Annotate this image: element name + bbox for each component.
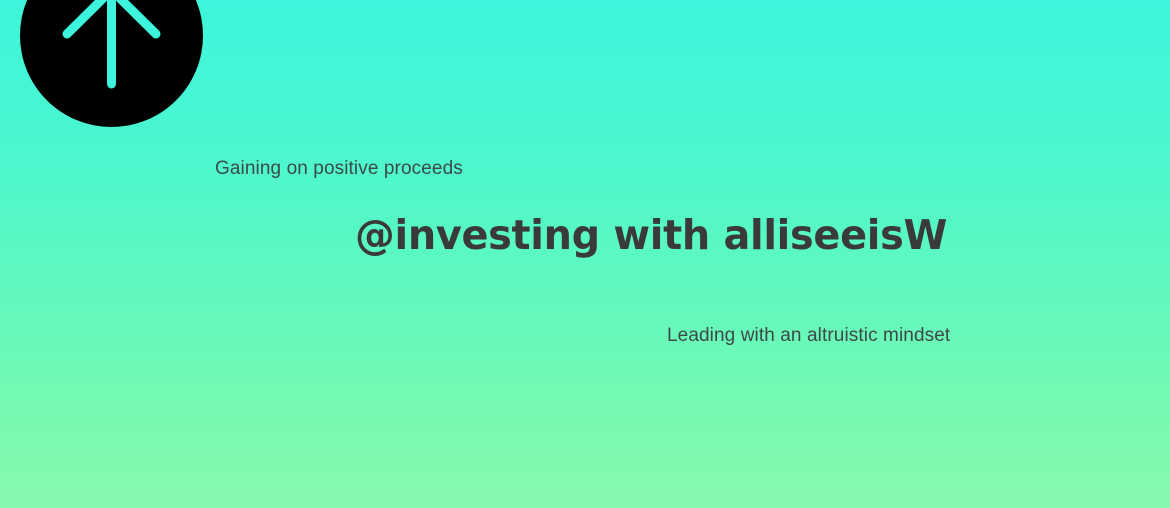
tagline-top: Gaining on positive proceeds: [215, 158, 463, 181]
up-arrow-icon: [20, 0, 203, 127]
tagline-bottom: Leading with an altruistic mindset: [667, 325, 950, 348]
page-title: @investing with alliseeisW: [355, 211, 947, 260]
logo-badge[interactable]: [20, 0, 203, 127]
promo-banner: Gaining on positive proceeds @investing …: [0, 0, 1170, 508]
